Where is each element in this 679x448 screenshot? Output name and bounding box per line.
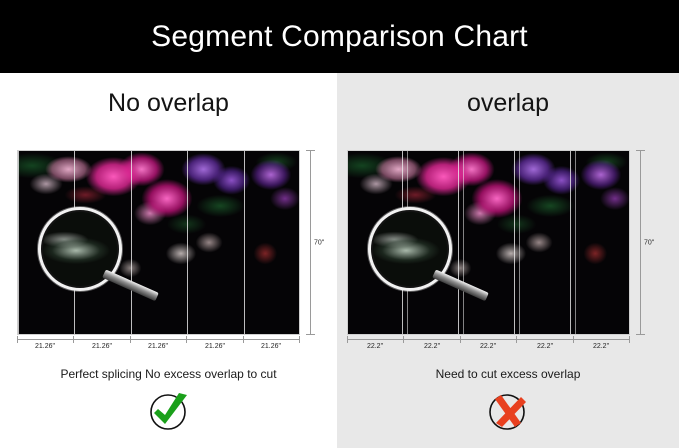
segment-comparison-chart: Segment Comparison Chart No overlap <box>0 0 679 448</box>
seam-line <box>187 151 188 334</box>
caption-no-overlap: Perfect splicing No excess overlap to cu… <box>0 367 337 381</box>
magnifier-icon <box>368 207 452 291</box>
segment-label: 21.26" <box>205 343 225 350</box>
dimension-cap <box>636 150 645 151</box>
height-dimension-overlap: 70" <box>631 150 655 335</box>
caption-overlap: Need to cut excess overlap <box>337 367 679 381</box>
panel-no-overlap: No overlap <box>0 73 337 448</box>
segment-label: 22.2" <box>537 343 553 350</box>
segment-label: 22.2" <box>480 343 496 350</box>
segment-label: 22.2" <box>367 343 383 350</box>
title-bar: Segment Comparison Chart <box>0 0 679 73</box>
seam-line <box>570 151 571 334</box>
dimension-tick <box>629 336 630 343</box>
page-title: Segment Comparison Chart <box>151 20 528 54</box>
verdict-overlap <box>337 389 679 435</box>
dimension-line <box>310 150 311 335</box>
comparison-panels: No overlap <box>0 73 679 448</box>
segment-label: 22.2" <box>424 343 440 350</box>
width-dimension-overlap: 22.2" 22.2" 22.2" 22.2" 22.2" <box>347 336 630 358</box>
segment-label: 21.26" <box>148 343 168 350</box>
dimension-cap <box>636 334 645 335</box>
segment-label: 21.26" <box>261 343 281 350</box>
seam-line-overlap <box>519 151 520 334</box>
dimension-tick <box>243 336 244 343</box>
height-dimension-no-overlap: 70" <box>301 150 325 335</box>
dimension-cap <box>306 150 315 151</box>
seam-line-overlap <box>463 151 464 334</box>
dimension-tick <box>403 336 404 343</box>
verdict-no-overlap <box>0 389 337 435</box>
dimension-tick <box>299 336 300 343</box>
dimension-line <box>640 150 641 335</box>
seam-line <box>244 151 245 334</box>
segment-label: 21.26" <box>92 343 112 350</box>
seam-line <box>514 151 515 334</box>
dimension-line <box>17 339 300 340</box>
cross-icon <box>485 389 531 435</box>
dimension-tick <box>516 336 517 343</box>
mural-image-no-overlap <box>17 150 300 335</box>
seam-line <box>458 151 459 334</box>
figure-overlap: 70" 22.2" 22.2" 22.2" 22.2" 22.2" <box>347 150 630 358</box>
seam-line <box>131 151 132 334</box>
panel-heading-no-overlap: No overlap <box>0 89 337 118</box>
check-icon <box>146 389 192 435</box>
panel-heading-overlap: overlap <box>337 89 679 118</box>
segment-label: 21.26" <box>35 343 55 350</box>
width-dimension-no-overlap: 21.26" 21.26" 21.26" 21.26" 21.26" <box>17 336 300 358</box>
dimension-cap <box>306 334 315 335</box>
dimension-tick <box>17 336 18 343</box>
segment-label: 22.2" <box>593 343 609 350</box>
dimension-tick <box>186 336 187 343</box>
dimension-tick <box>130 336 131 343</box>
mural-image-overlap <box>347 150 630 335</box>
panel-overlap: overlap <box>337 73 679 448</box>
seam-line-overlap <box>575 151 576 334</box>
figure-no-overlap: 70" 21.26" 21.26" 21.26" 21.26" 21.26" <box>17 150 300 358</box>
dimension-tick <box>573 336 574 343</box>
height-label-no-overlap: 70" <box>312 238 324 247</box>
dimension-tick <box>347 336 348 343</box>
magnifier-icon <box>38 207 122 291</box>
dimension-tick <box>460 336 461 343</box>
dimension-tick <box>73 336 74 343</box>
height-label-overlap: 70" <box>642 238 654 247</box>
dimension-line <box>347 339 630 340</box>
